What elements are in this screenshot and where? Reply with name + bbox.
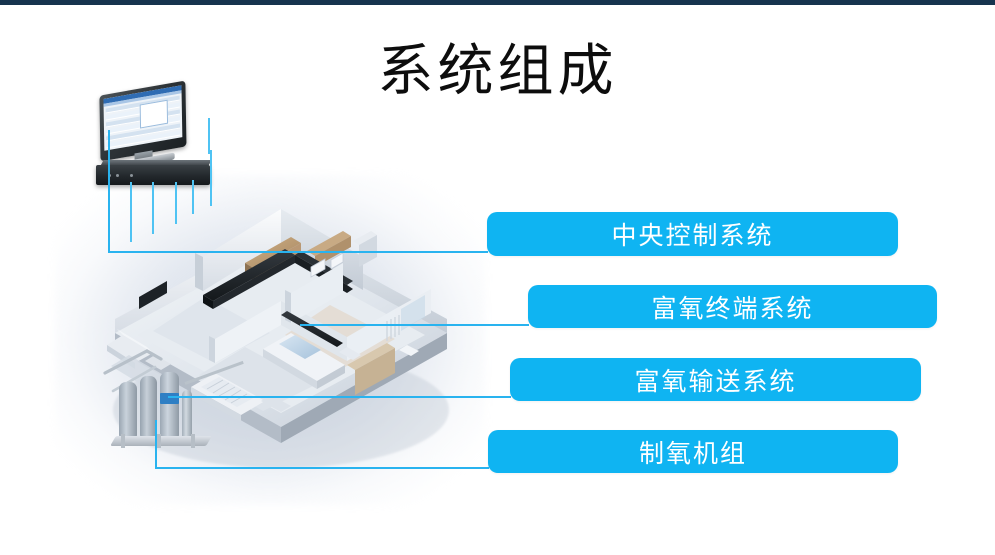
connector-line [175,182,177,224]
monitor-icon [99,81,186,168]
slide-canvas: 系统组成 [0,0,995,555]
server-led [116,174,119,177]
screen-dialog [140,100,168,129]
server-box-icon [96,160,216,188]
generator-control-panel [160,393,179,404]
generator-tank [119,382,137,438]
connector-line [130,182,132,242]
monitor-bezel [99,81,186,162]
banner-oxygen-terminal[interactable]: 富氧终端系统 [528,285,937,328]
connector-riser-central [108,130,110,252]
generator-leg [157,434,161,448]
banner-oxygen-generator[interactable]: 制氧机组 [488,430,898,473]
connector-line [208,118,210,154]
connector-line [152,182,154,234]
connector-line [210,150,212,206]
banner-central-control[interactable]: 中央控制系统 [487,212,898,256]
connector-line-to-oxygen-terminal [300,324,529,326]
banner-label: 富氧终端系统 [651,289,813,325]
oxygen-generator-illustration [113,368,209,456]
connector-line [192,180,194,214]
connector-line-to-oxygen-generator [155,467,489,469]
banner-label: 富氧输送系统 [634,362,796,398]
central-control-computer-illustration [96,88,216,188]
banner-oxygen-delivery[interactable]: 富氧输送系统 [510,358,921,401]
top-accent-strip [0,0,995,5]
banner-label: 制氧机组 [639,434,747,470]
monitor-screen [103,85,182,151]
server-led [130,174,133,177]
banner-label: 中央控制系统 [611,216,773,252]
generator-leg [191,434,195,448]
connector-line-to-central-control [108,251,488,253]
generator-tank [160,372,179,438]
connector-riser-generator [155,420,157,468]
generator-leg [121,434,125,448]
generator-base-frame [110,436,212,446]
